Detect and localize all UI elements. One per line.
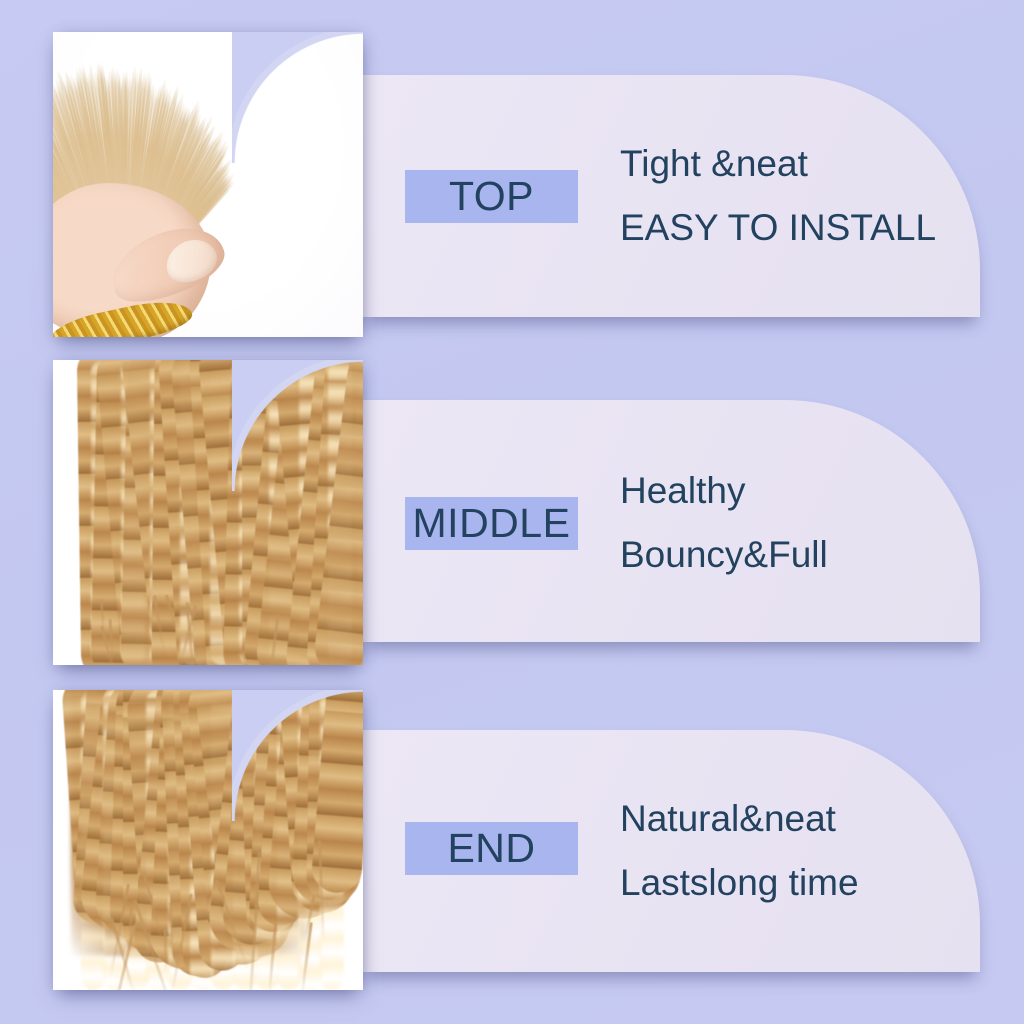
photo-panel-middle (53, 360, 363, 665)
label-chip-end: END (405, 822, 578, 875)
feature-lines-end: Natural&neat Lastslong time (620, 800, 859, 901)
photo-panel-end (53, 690, 363, 990)
label-text-end: END (447, 828, 535, 869)
label-text-middle: MIDDLE (413, 503, 571, 544)
label-chip-middle: MIDDLE (405, 497, 578, 550)
feature-line: Healthy (620, 472, 828, 510)
feature-line: Natural&neat (620, 800, 859, 838)
feature-row-end: END Natural&neat Lastslong time (0, 0, 1024, 345)
feature-line: Bouncy&Full (620, 536, 828, 574)
deep-wave-hair-midsection-image (53, 360, 363, 665)
feature-line: Lastslong time (620, 864, 859, 902)
feature-lines-middle: Healthy Bouncy&Full (620, 472, 828, 573)
infographic-canvas: TOP Tight &neat EASY TO INSTALL MIDDLE (0, 0, 1024, 1024)
deep-wave-hair-ends-image (53, 690, 363, 990)
